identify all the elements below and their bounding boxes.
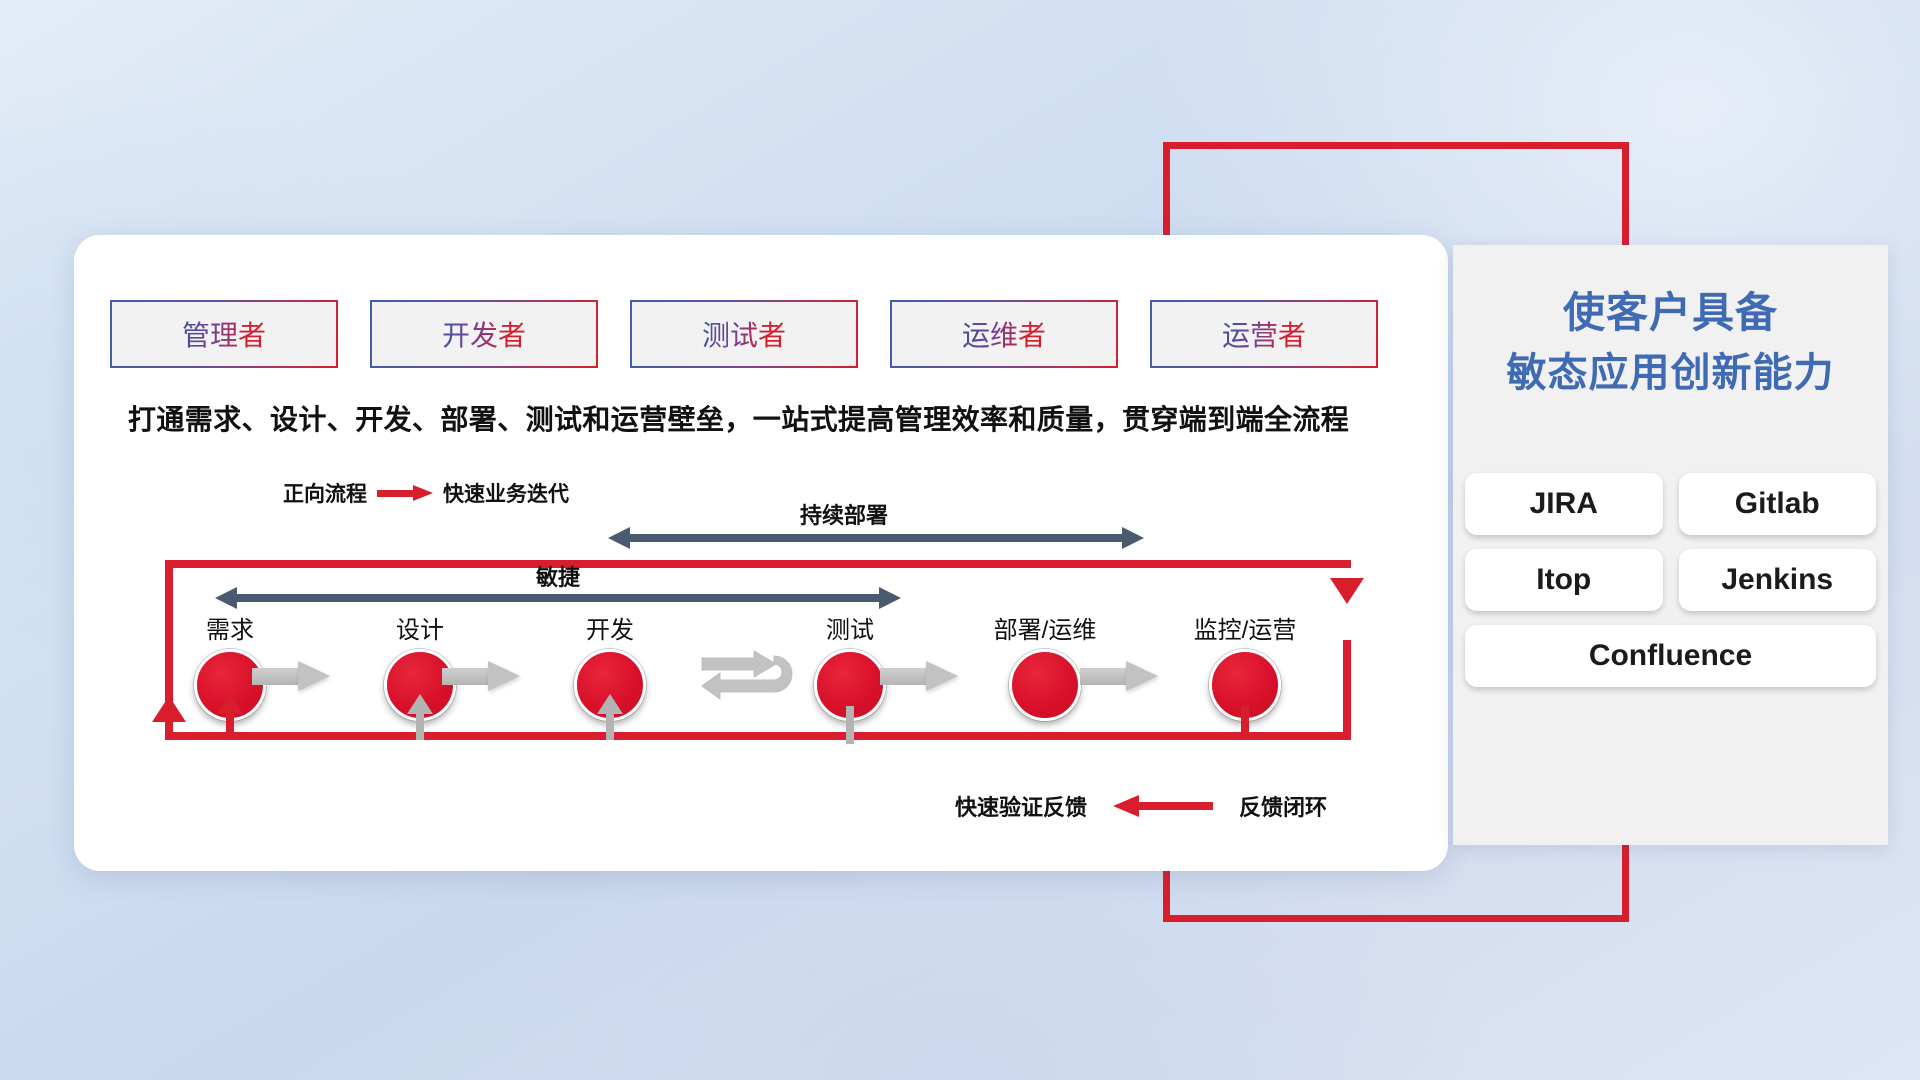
- feedback-target-label: 快速验证反馈: [955, 790, 1087, 822]
- tool-chip-jira[interactable]: JIRA: [1465, 473, 1663, 535]
- stage-label: 部署/运维: [985, 610, 1105, 645]
- stage-label: 监控/运营: [1185, 610, 1305, 645]
- red-right-arrow-icon: [377, 485, 433, 501]
- role-box-group: 管理者 开发者 测试者 运维者 运营者: [110, 300, 1378, 368]
- red-loop-down-arrowhead-icon: [1330, 578, 1364, 604]
- stage-label: 需求: [170, 610, 290, 645]
- feedback-legend: 快速验证反馈 反馈闭环: [955, 790, 1327, 822]
- connector-arrow-icon: [880, 661, 958, 691]
- stage-stem-arrowhead-icon: [217, 694, 243, 714]
- role-label: 管理者: [182, 314, 266, 354]
- role-label: 运维者: [962, 314, 1046, 354]
- feedback-source-label: 反馈闭环: [1239, 790, 1327, 822]
- stage-label: 测试: [790, 610, 910, 645]
- connector-arrow-icon: [252, 661, 330, 691]
- tool-chip-gitlab[interactable]: Gitlab: [1679, 473, 1877, 535]
- role-label: 测试者: [702, 314, 786, 354]
- role-box-ops[interactable]: 运维者: [890, 300, 1118, 368]
- stage-dot-icon: [1009, 649, 1081, 721]
- tool-chip-jenkins[interactable]: Jenkins: [1679, 549, 1877, 611]
- continuous-deployment-span-arrow-icon: [608, 527, 1144, 549]
- role-label: 运营者: [1222, 314, 1306, 354]
- stage-node-development[interactable]: 开发: [550, 610, 670, 721]
- red-left-arrow-icon: [1113, 798, 1213, 814]
- panel-heading: 使客户具备 敏态应用创新能力: [1453, 245, 1888, 402]
- description-text: 打通需求、设计、开发、部署、测试和运营壁垒，一站式提高管理效率和质量，贯穿端到端…: [128, 398, 1428, 438]
- role-box-operator[interactable]: 运营者: [1150, 300, 1378, 368]
- role-box-manager[interactable]: 管理者: [110, 300, 338, 368]
- value-panel: 使客户具备 敏态应用创新能力 JIRA Gitlab Itop Jenkins …: [1453, 245, 1888, 845]
- role-box-tester[interactable]: 测试者: [630, 300, 858, 368]
- tool-chip-confluence[interactable]: Confluence: [1465, 625, 1876, 687]
- stage-node-monitor-operate[interactable]: 监控/运营: [1185, 610, 1305, 721]
- stage-stem-arrowhead-icon: [597, 694, 623, 714]
- stage-label: 开发: [550, 610, 670, 645]
- agile-span-arrow-icon: [215, 587, 901, 609]
- continuous-deployment-label: 持续部署: [800, 498, 888, 530]
- forward-flow-source-label: 正向流程: [283, 478, 367, 508]
- panel-heading-line1: 使客户具备: [1563, 289, 1778, 336]
- stage-label: 设计: [360, 610, 480, 645]
- red-loop-top: [165, 560, 1351, 568]
- tool-list: JIRA Gitlab Itop Jenkins Confluence: [1465, 473, 1876, 687]
- forward-flow-target-label: 快速业务迭代: [443, 478, 569, 508]
- stage-stem: [1241, 706, 1249, 740]
- role-label: 开发者: [442, 314, 526, 354]
- connector-arrow-icon: [442, 661, 520, 691]
- panel-heading-line2: 敏态应用创新能力: [1453, 344, 1888, 402]
- tool-chip-itop[interactable]: Itop: [1465, 549, 1663, 611]
- forward-flow-legend: 正向流程 快速业务迭代: [283, 478, 569, 508]
- connector-arrow-icon: [1080, 661, 1158, 691]
- loopback-arrow-icon: [700, 650, 796, 712]
- slide-canvas: 管理者 开发者 测试者 运维者 运营者 打通需求、设计、开发、部署、测试和运营壁…: [0, 0, 1920, 1080]
- stage-stem-arrowhead-icon: [407, 694, 433, 714]
- stage-stem: [846, 706, 854, 744]
- role-box-developer[interactable]: 开发者: [370, 300, 598, 368]
